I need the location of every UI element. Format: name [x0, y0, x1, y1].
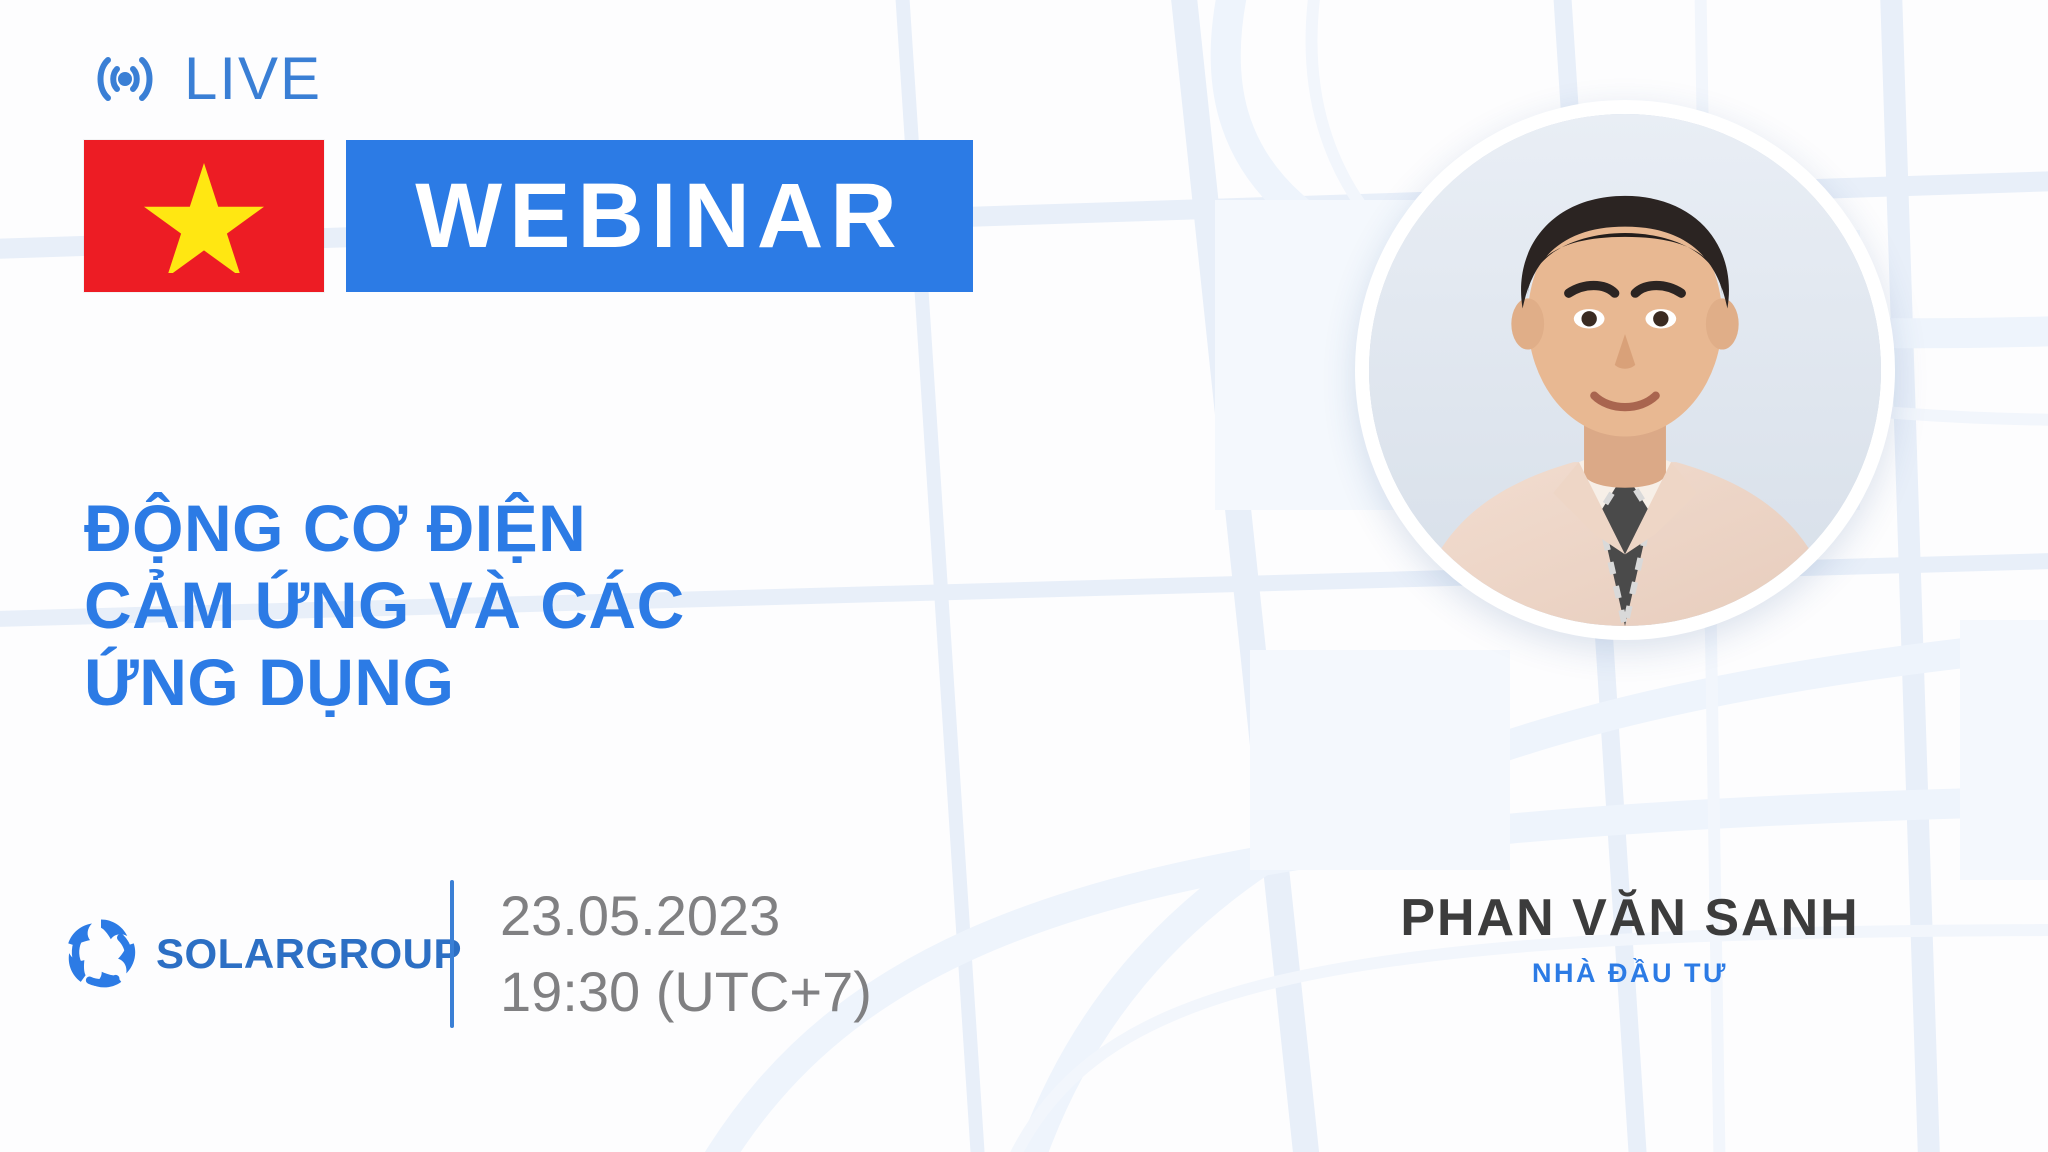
bottom-bar: SOLARGROUP 23.05.2023 19:30 (UTC+7) — [60, 880, 872, 1028]
broadcast-signal-icon — [88, 42, 162, 116]
webinar-title: ĐỘNG CƠ ĐIỆN CẢM ỨNG VÀ CÁC ỨNG DỤNG — [84, 490, 685, 722]
webinar-banner-box: WEBINAR — [346, 140, 973, 292]
speaker-role: NHÀ ĐẦU TƯ — [1390, 959, 1870, 989]
portrait-illustration — [1369, 114, 1881, 626]
vietnam-flag — [84, 140, 324, 292]
speaker-portrait-frame — [1355, 100, 1895, 640]
solargroup-wordmark: SOLARGROUP — [156, 933, 462, 975]
live-label: LIVE — [184, 49, 322, 109]
webinar-time: 19:30 (UTC+7) — [500, 964, 872, 1020]
webinar-label: WEBINAR — [415, 170, 904, 262]
webinar-header: WEBINAR — [84, 140, 973, 292]
solargroup-pinwheel-icon — [60, 913, 142, 995]
speaker-portrait — [1369, 114, 1881, 626]
title-line-2: CẢM ỨNG VÀ CÁC — [84, 567, 685, 644]
webinar-banner: LIVE WEBINAR ĐỘNG CƠ ĐIỆN CẢM ỨNG VÀ CÁC… — [0, 0, 2048, 1152]
schedule-block: 23.05.2023 19:30 (UTC+7) — [500, 888, 872, 1020]
title-line-1: ĐỘNG CƠ ĐIỆN — [84, 490, 685, 567]
live-indicator: LIVE — [88, 42, 322, 116]
speaker-name: PHAN VĂN SANH — [1390, 890, 1870, 947]
flag-star-icon — [144, 159, 264, 273]
title-line-3: ỨNG DỤNG — [84, 644, 685, 721]
vertical-divider — [450, 880, 454, 1028]
webinar-date: 23.05.2023 — [500, 888, 872, 944]
speaker-caption: PHAN VĂN SANH NHÀ ĐẦU TƯ — [1390, 890, 1870, 989]
solargroup-logo: SOLARGROUP — [60, 913, 440, 995]
